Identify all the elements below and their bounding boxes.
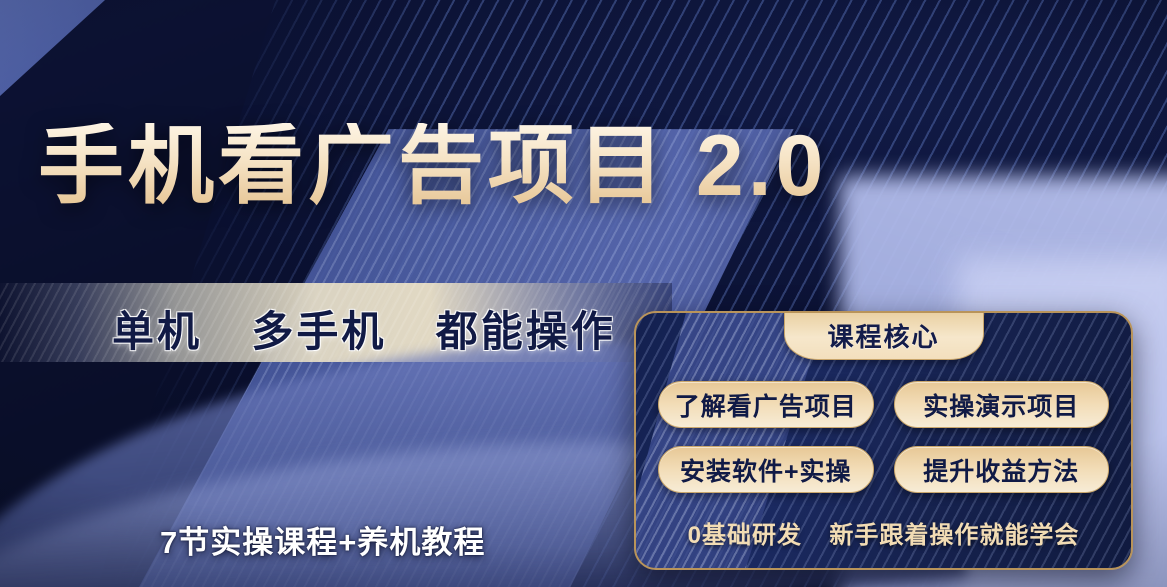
subheadline-part-3: 都能操作 (436, 308, 616, 355)
headline-title: 手机看广告项目 2.0 (38, 123, 827, 209)
course-core-card: 课程核心 了解看广告项目 实操演示项目 安装软件+实操 提升收益方法 0基础研发 (634, 311, 1133, 570)
card-footer-part-2: 新手跟着操作就能学会 (829, 522, 1079, 549)
bottom-caption: 7节实操课程+养机教程 (160, 517, 485, 562)
course-core-badge: 课程核心 (784, 311, 984, 360)
promo-poster: 手机看广告项目 2.0 单机 多手机 都能操作 7节实操课程+养机教程 课程核心… (0, 0, 1167, 587)
feature-pill-grid: 了解看广告项目 实操演示项目 安装软件+实操 提升收益方法 (658, 381, 1109, 493)
subheadline-part-1: 单机 (112, 308, 202, 355)
feature-pill-label: 提升收益方法 (923, 452, 1079, 488)
feature-pill[interactable]: 实操演示项目 (894, 381, 1110, 428)
feature-pill[interactable]: 提升收益方法 (894, 446, 1110, 493)
feature-pill-label: 了解看广告项目 (675, 387, 857, 423)
feature-pill-label: 安装软件+实操 (680, 452, 852, 488)
card-content: 课程核心 了解看广告项目 实操演示项目 安装软件+实操 提升收益方法 0基础研发 (636, 313, 1131, 568)
course-core-badge-label: 课程核心 (827, 317, 939, 354)
card-footer-part-1: 0基础研发 (688, 522, 802, 549)
feature-pill-label: 实操演示项目 (923, 387, 1079, 423)
feature-pill[interactable]: 了解看广告项目 (658, 381, 874, 428)
subheadline: 单机 多手机 都能操作 (112, 298, 616, 359)
feature-pill[interactable]: 安装软件+实操 (658, 446, 874, 493)
subheadline-part-2: 多手机 (251, 308, 386, 355)
card-footer-text: 0基础研发 新手跟着操作就能学会 (636, 515, 1131, 550)
